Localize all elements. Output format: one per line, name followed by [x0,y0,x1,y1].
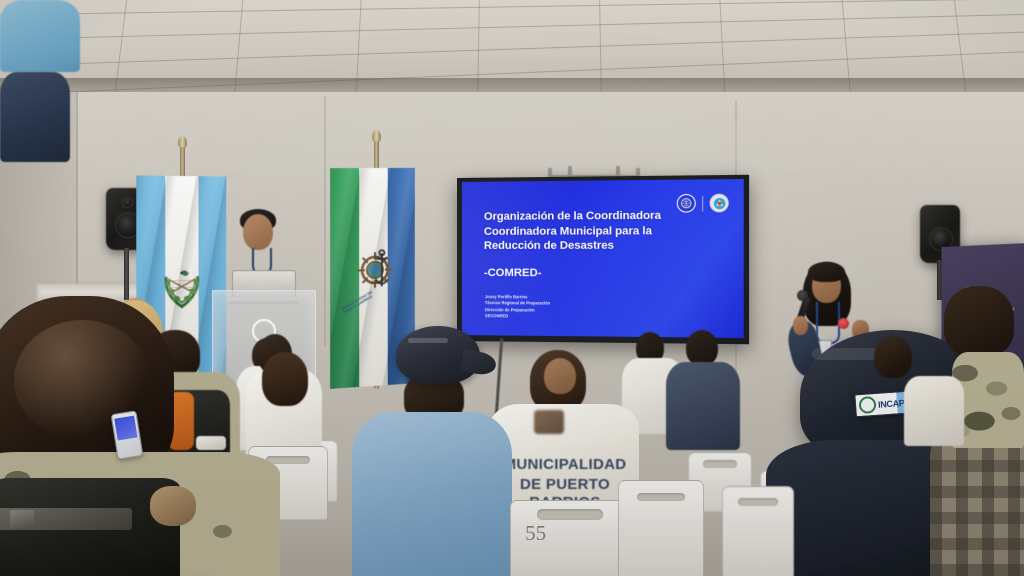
vest-text-line1: MUNICIPALIDAD [492,456,638,474]
speaker-torso [0,72,70,162]
speaker-lapel-pin [838,318,849,329]
attendee-torso [352,412,512,576]
conred-logo [710,194,729,213]
vest-shoulder-print [534,410,564,434]
attendee-hair [262,352,308,406]
foreground-soldier-hand [150,486,196,526]
plaid-shirt [930,430,1024,576]
presentation-screen[interactable]: Organización de la Coordinadora Coordina… [457,175,749,344]
chair[interactable] [722,486,794,576]
speaker-stand-left [124,248,129,300]
reflective-patch [196,436,226,450]
chair-numbered[interactable]: 55 [510,500,630,576]
speaker-lanyard [816,302,840,344]
attendee-torso [666,362,740,450]
screen-glare [462,179,677,338]
speaker-hand-left [793,316,808,335]
guatemala-coat-of-arms [160,260,203,313]
cap-stitch-highlight [408,338,448,343]
attendee-head [944,286,1014,356]
podium-presenter-torso [0,0,80,72]
microphone-head [797,290,808,301]
incap-label: INCAP [878,397,905,409]
attendee-head [874,336,912,378]
vest-buckle [10,510,34,528]
attendee-torso [904,376,964,446]
photo-scene: Organización de la Coordinadora Coordina… [0,0,1024,576]
chair[interactable] [618,480,704,576]
speaker-fringe [808,262,845,282]
chair-number: 55 [525,521,546,546]
slide-surface: Organización de la Coordinadora Coordina… [462,179,744,338]
attendee-head [686,330,718,366]
phone-screen [114,416,137,441]
podium-presenter-head [243,214,273,250]
wall-seam [324,96,326,346]
incap-mark-icon [858,396,876,414]
attendee-head [544,358,576,394]
